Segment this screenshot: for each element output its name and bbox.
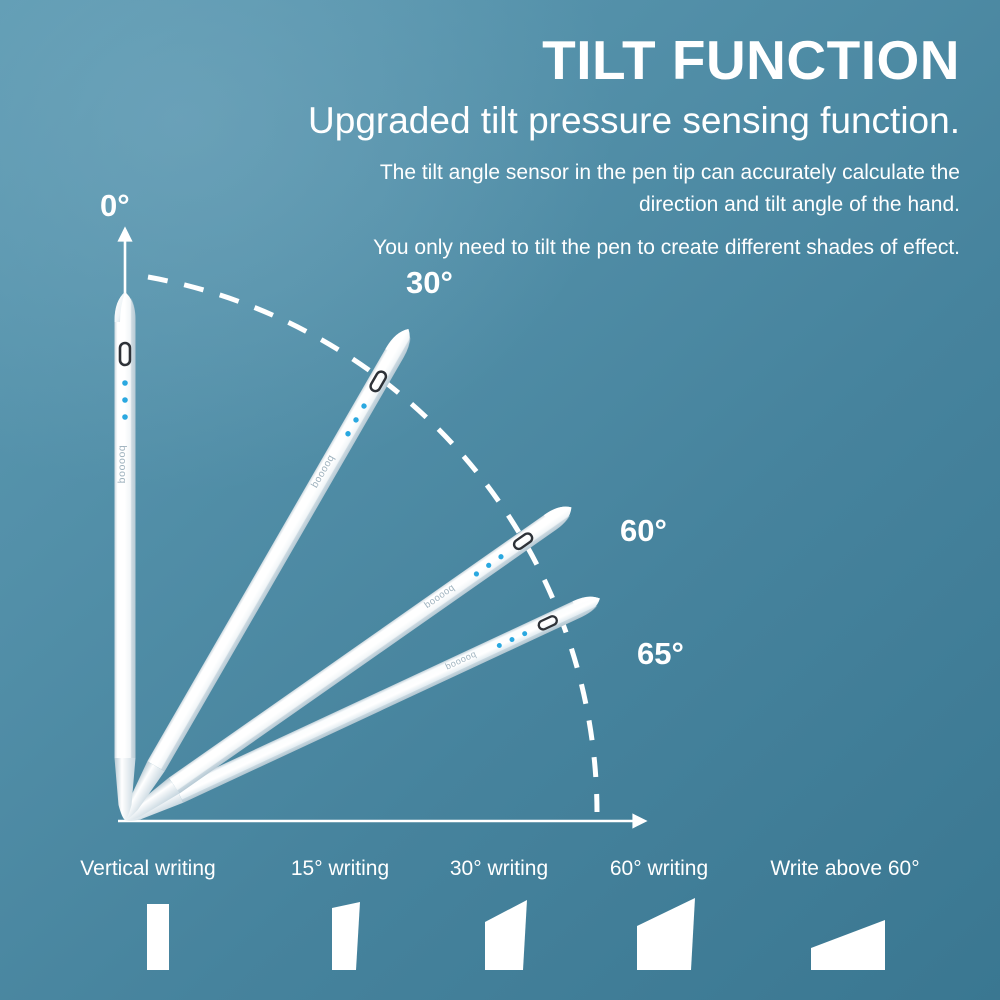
pen-tilt-55: booooq (120, 500, 577, 828)
legend-caption-vertical: Vertical writing (80, 858, 215, 879)
pen-brand-mark: booooq (116, 445, 128, 484)
led-indicator (122, 397, 128, 403)
stroke-swatches (0, 898, 1000, 970)
legend-caption-60: 60° writing (610, 858, 708, 879)
legend-captions: Vertical writing 15° writing 30° writing… (0, 858, 1000, 892)
stroke-swatch-wide-wedge (633, 898, 697, 970)
angle-label-0: 0° (100, 190, 130, 221)
tilt-angle-diagram: booooq booooq booooq (0, 0, 1000, 1000)
pen-vertical: booooq (115, 292, 136, 820)
led-indicator (122, 380, 128, 386)
led-indicator (122, 414, 128, 420)
stroke-swatch-slight-wedge (328, 902, 360, 970)
stroke-swatch-medium-wedge (479, 900, 527, 970)
stroke-swatch-upright-bar (147, 904, 169, 970)
angle-label-60: 60° (620, 515, 667, 546)
infographic-poster: TILT FUNCTION Upgraded tilt pressure sen… (0, 0, 1000, 1000)
legend-caption-15: 15° writing (291, 858, 389, 879)
stroke-swatch-flat-wedge (807, 920, 889, 970)
angle-label-30: 30° (406, 267, 453, 298)
legend-caption-above-60: Write above 60° (770, 858, 919, 879)
legend-caption-30: 30° writing (450, 858, 548, 879)
angle-label-65: 65° (637, 638, 684, 669)
